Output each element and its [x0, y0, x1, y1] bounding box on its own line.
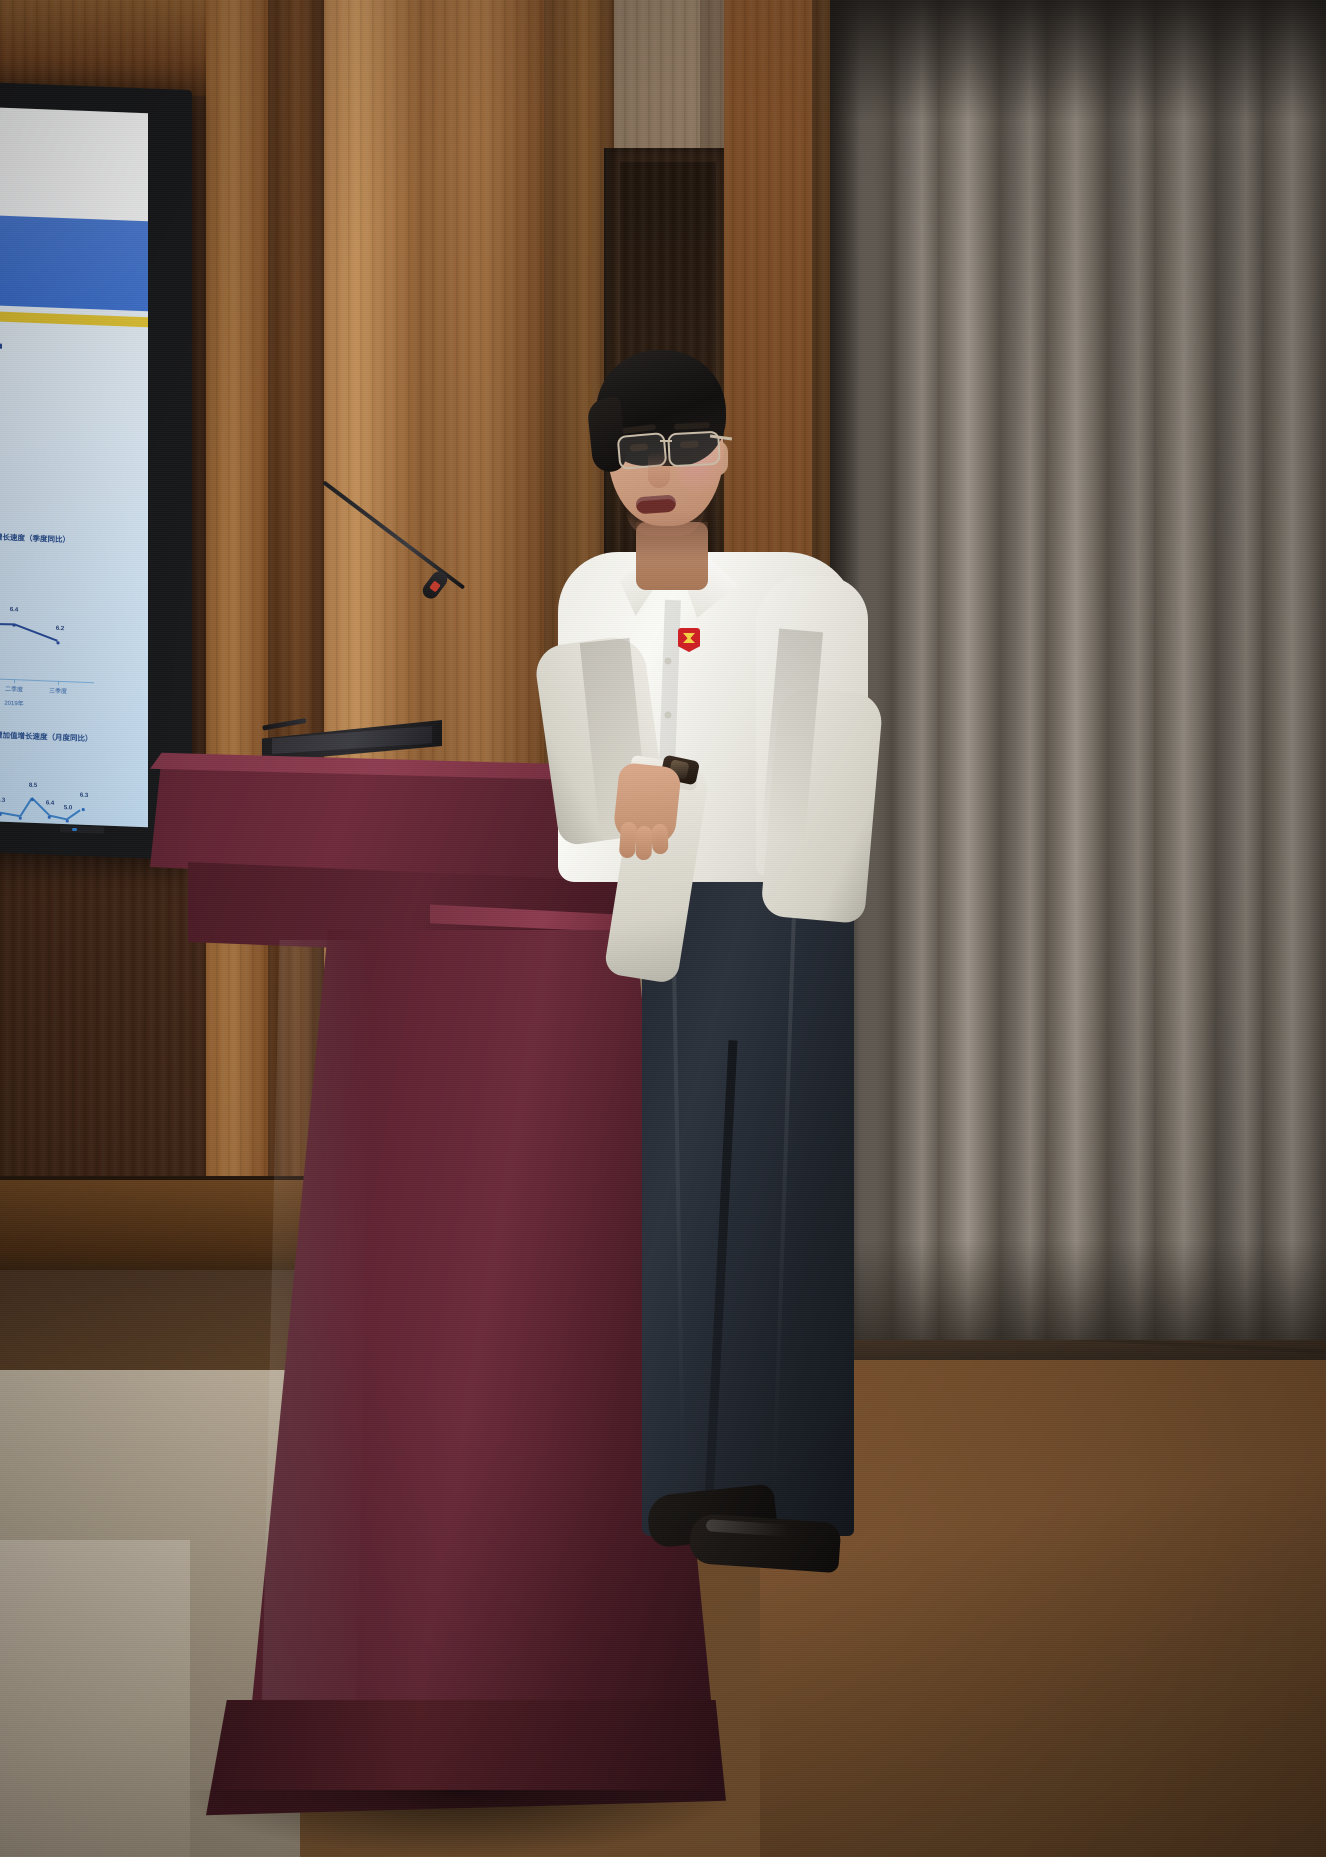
chart-2-data-label: 6.3 [0, 797, 5, 803]
chart-2-line-segment [0, 812, 20, 817]
chart-1-data-label: 6.2 [56, 626, 64, 632]
chart-2-data-point [82, 808, 85, 811]
finger [635, 826, 652, 861]
floor-stone-front [0, 1540, 190, 1857]
shirt-button [665, 712, 671, 718]
chart-2-data-label: 8.5 [29, 783, 37, 789]
chart-1-data-point [13, 624, 16, 627]
press-conference-photo: GDP 国内生产总值增长速度（季度同比） 6.4 6.4 6.2 一季度 二季度… [0, 0, 1326, 1857]
slide-bullet-underline [0, 342, 2, 349]
speaker-figure [470, 340, 890, 1590]
slide-accent-rule [0, 311, 148, 328]
wood-panel-upper-left [0, 0, 212, 96]
chart-2-data-label: 5.0 [64, 805, 72, 811]
chart-1-tick [58, 681, 59, 685]
lectern-floor-shadow [180, 1790, 740, 1857]
chart-1-data-point [57, 641, 60, 644]
chart-2-data-point [66, 819, 69, 822]
chart-1-title: 国内生产总值增长速度（季度同比） [0, 530, 70, 546]
chart-1-x-axis-label: 2019年 [4, 698, 23, 708]
chart-2-title: 规模以上工业增加值增长速度（月度同比） [0, 728, 93, 744]
chart-2-data-label: 6.4 [46, 800, 54, 806]
finger [619, 821, 637, 858]
chart-2: 5.9 6.4 5.7 6.3 8.5 6.4 5.0 6.3 [0, 755, 98, 827]
chart-1-data-label: 6.4 [10, 607, 18, 613]
chart-1: 6.4 6.4 6.2 一季度 二季度 三季度 2019年 [0, 579, 94, 683]
chart-2-data-label: 6.3 [80, 793, 88, 799]
nose [648, 452, 670, 488]
chart-2-data-point [48, 816, 51, 819]
curtain-top-shading [830, 0, 1326, 120]
chart-1-line-segment [14, 623, 58, 642]
finger [651, 824, 668, 855]
chart-2-data-point [0, 813, 1, 816]
eyeglasses-bridge [660, 440, 672, 442]
shirt-button [665, 658, 671, 664]
chart-2-data-point [19, 817, 22, 820]
slide-title-band [0, 215, 148, 312]
power-led-icon [72, 828, 77, 831]
chart-2-line-segment [49, 815, 67, 820]
presentation-screen[interactable]: GDP 国内生产总值增长速度（季度同比） 6.4 6.4 6.2 一季度 二季度… [0, 107, 148, 828]
curtain-bottom-shading [830, 1240, 1326, 1360]
chart-1-tick [14, 679, 15, 683]
chart-2-data-point [31, 798, 34, 801]
chart-1-x-tick-label: 二季度 [5, 684, 23, 694]
chart-1-x-tick-label: 三季度 [49, 686, 67, 696]
stage-curtain [830, 0, 1326, 1340]
wood-panel-column-a [206, 0, 270, 1270]
